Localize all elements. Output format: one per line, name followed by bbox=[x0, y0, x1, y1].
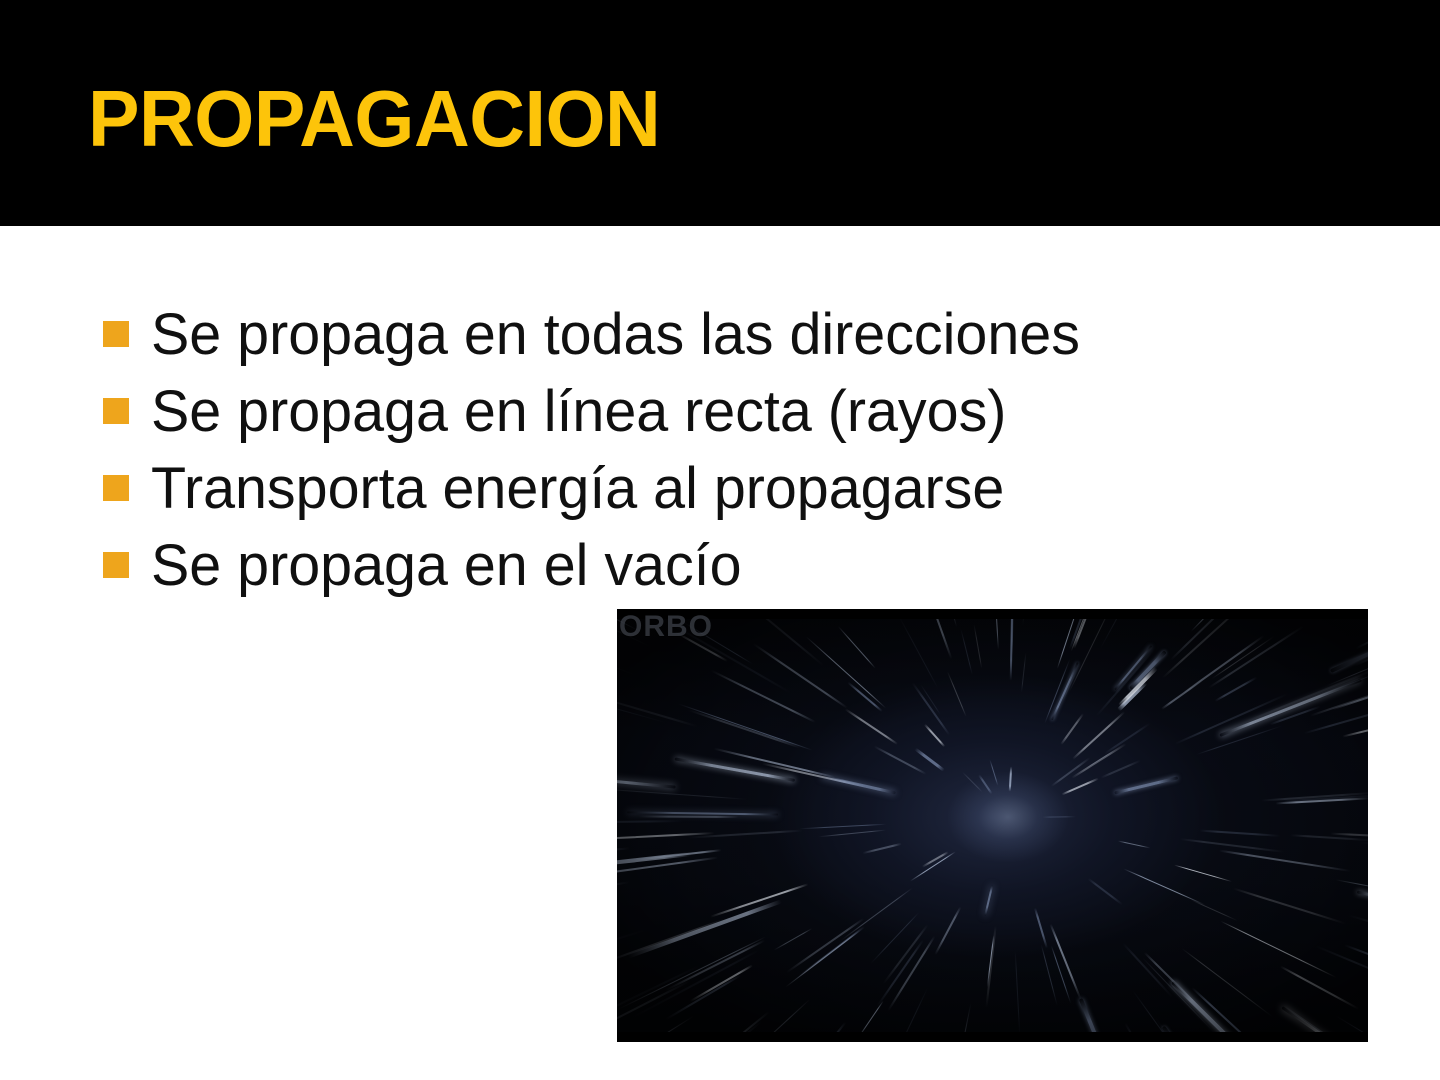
star-streak bbox=[638, 815, 738, 818]
image-letterbox-top bbox=[617, 609, 1368, 619]
list-item: Se propaga en línea recta (rayos) bbox=[103, 375, 1233, 452]
square-bullet-icon bbox=[103, 398, 129, 424]
image-letterbox-bottom bbox=[617, 1032, 1368, 1042]
bullet-text: Se propaga en todas las direcciones bbox=[151, 298, 1222, 372]
bullet-list: Se propaga en todas las direcciones Se p… bbox=[103, 298, 1233, 606]
square-bullet-icon bbox=[103, 475, 129, 501]
slide: PROPAGACION Se propaga en todas las dire… bbox=[0, 0, 1440, 1080]
bullet-text: Transporta energía al propagarse bbox=[151, 452, 1222, 526]
list-item: Se propaga en todas las direcciones bbox=[103, 298, 1233, 375]
list-item: Transporta energía al propagarse bbox=[103, 452, 1233, 529]
bullet-text: Se propaga en línea recta (rayos) bbox=[151, 375, 1222, 449]
bullet-text: Se propaga en el vacío bbox=[151, 529, 1222, 603]
square-bullet-icon bbox=[103, 552, 129, 578]
page-title: PROPAGACION bbox=[88, 76, 660, 162]
title-band: PROPAGACION bbox=[0, 0, 1440, 226]
starfield-warp-image: ORBO bbox=[617, 609, 1368, 1042]
list-item: Se propaga en el vacío bbox=[103, 529, 1233, 606]
square-bullet-icon bbox=[103, 321, 129, 347]
